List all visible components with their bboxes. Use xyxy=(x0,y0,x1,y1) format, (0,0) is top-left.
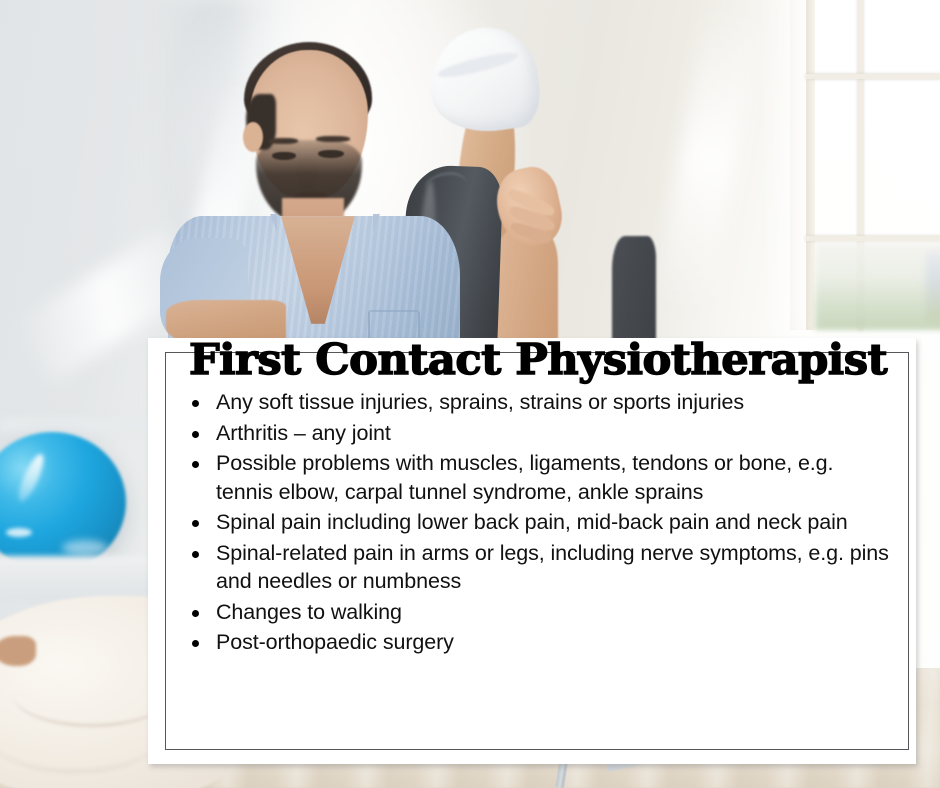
poster-root: First Contact Physiotherapist Any soft t… xyxy=(0,0,940,788)
conditions-list: Any soft tissue injuries, sprains, strai… xyxy=(186,388,892,659)
window-mullion-horizontal-bottom xyxy=(806,236,940,241)
window-frame-left xyxy=(806,0,815,330)
window-view-outside-right xyxy=(926,252,940,322)
therapist-ear xyxy=(243,122,263,152)
window-mullion-horizontal-top xyxy=(806,74,940,79)
list-item: Possible problems with muscles, ligament… xyxy=(186,449,892,506)
exercise-ball-reflection xyxy=(62,540,108,556)
window-view-outside xyxy=(815,242,940,330)
patient-legging-right xyxy=(612,236,656,346)
list-item: Spinal-related pain in arms or legs, inc… xyxy=(186,539,892,596)
patient-thigh xyxy=(496,228,558,348)
list-item: Arthritis – any joint xyxy=(186,419,892,448)
shelf-behind-ball xyxy=(0,418,170,432)
patient-arm-skin xyxy=(0,636,36,666)
patient-legging-fold xyxy=(424,172,468,205)
page-title: First Contact Physiotherapist xyxy=(157,336,919,384)
exercise-ball-highlight-small xyxy=(6,528,32,537)
list-item: Any soft tissue injuries, sprains, strai… xyxy=(186,388,892,417)
surface-under-ball xyxy=(0,556,160,598)
list-item: Post-orthopaedic surgery xyxy=(186,628,892,657)
window xyxy=(806,0,940,330)
list-item: Changes to walking xyxy=(186,598,892,627)
list-item: Spinal pain including lower back pain, m… xyxy=(186,508,892,537)
